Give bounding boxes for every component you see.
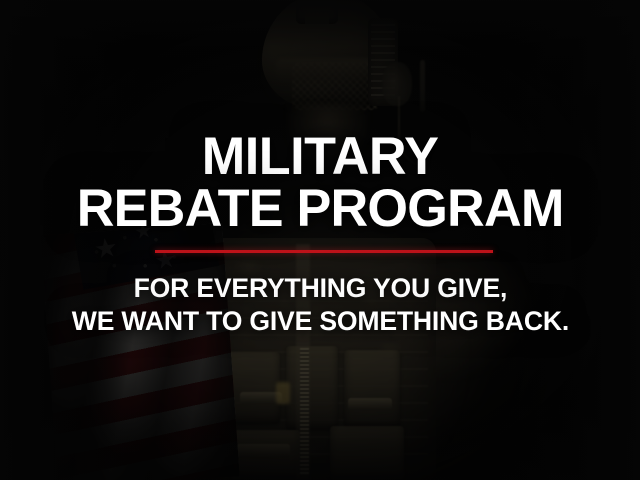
tagline: FOR EVERYTHING YOU GIVE, WE WANT TO GIVE…	[71, 272, 568, 338]
headline-line-2: REBATE PROGRAM	[77, 183, 564, 235]
tagline-line-2: WE WANT TO GIVE SOMETHING BACK.	[71, 305, 568, 338]
page-title: MILITARY REBATE PROGRAM	[77, 131, 564, 236]
headline-line-1: MILITARY	[77, 131, 564, 183]
military-rebate-banner: ★ ★ ★ MILITARY REBATE PROGRAM FOR EVERYT…	[0, 0, 640, 480]
banner-content: MILITARY REBATE PROGRAM FOR EVERYTHING Y…	[0, 0, 640, 480]
red-rule-divider	[155, 250, 493, 253]
tagline-line-1: FOR EVERYTHING YOU GIVE,	[71, 272, 568, 305]
